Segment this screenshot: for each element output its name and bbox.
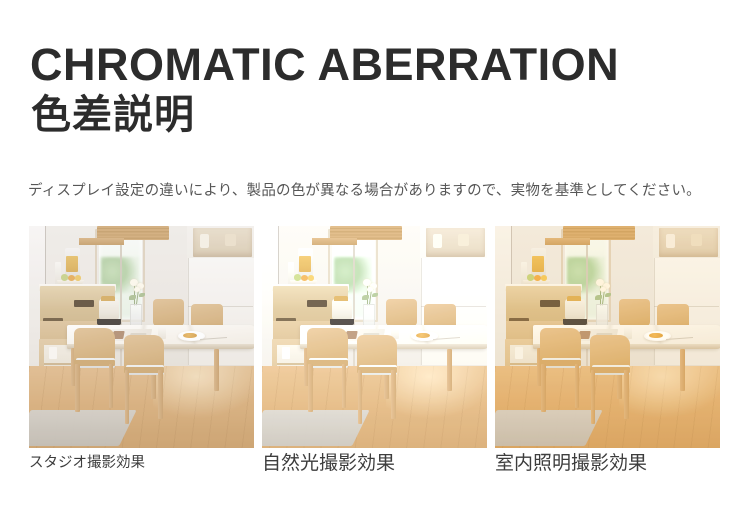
- table-leg-right: [214, 349, 219, 391]
- dining-room-scene-indoor: [495, 226, 720, 448]
- photo-studio: [29, 226, 254, 448]
- fruit-yellow: [541, 275, 547, 281]
- sideboard-slot: [74, 300, 94, 307]
- chair-leg-nr-2: [158, 370, 163, 419]
- table-pot-lid: [567, 296, 581, 301]
- chair-leg-nl-2: [109, 364, 114, 408]
- chair-back-far-left: [619, 299, 651, 326]
- shelf-jar: [49, 347, 57, 359]
- chair-leg-nr-2: [391, 370, 396, 419]
- sideboard-slot: [540, 300, 560, 307]
- table-pot: [99, 299, 119, 320]
- table-pot-base: [563, 319, 588, 324]
- table-pot-base: [97, 319, 122, 324]
- wood-slat-ledge: [545, 238, 590, 245]
- caption-studio: スタジオ撮影効果: [29, 452, 145, 474]
- chair-leg-nl-1: [308, 364, 313, 413]
- chair-back-far-left: [386, 299, 418, 326]
- chair-leg-nl-1: [75, 364, 80, 413]
- chair-back-near-left: [74, 328, 115, 361]
- chair-back-near-right: [590, 335, 631, 368]
- chair-back-far-left: [153, 299, 185, 326]
- blender-jar: [532, 256, 544, 272]
- niche-object-b: [458, 234, 469, 246]
- caption-indoor: 室内照明撮影効果: [495, 452, 647, 476]
- chair-leg-nr-1: [125, 370, 130, 423]
- fruit-green: [294, 274, 302, 281]
- section-subtitle: ディスプレイ設定の違いにより、製品の色が異なる場合がありますので、実物を基準とし…: [28, 181, 701, 201]
- plate-food: [416, 333, 430, 339]
- table-leg-right: [447, 349, 452, 391]
- plate-food: [649, 333, 663, 339]
- flower-leaf-1: [362, 295, 369, 300]
- niche-object-a: [200, 234, 209, 248]
- fruit-green: [61, 274, 69, 281]
- niche-object-a: [666, 234, 675, 248]
- wood-slat-ledge: [312, 238, 357, 245]
- niche-object-b: [225, 234, 236, 246]
- light-pool: [386, 366, 487, 419]
- chair-leg-nl-1: [541, 364, 546, 413]
- chromatic-aberration-section: CHROMATIC ABERRATION 色差説明 ディスプレイ設定の違いにより…: [0, 0, 750, 526]
- table-pot-base: [330, 319, 355, 324]
- chair-leg-nl-2: [342, 364, 347, 408]
- table-pot-lid: [334, 296, 348, 301]
- blender-jar: [66, 256, 78, 272]
- photo-indoor-lighting: [495, 226, 720, 448]
- chair-leg-nr-2: [624, 370, 629, 419]
- chair-back-near-left: [540, 328, 581, 361]
- table-pot: [565, 299, 585, 320]
- shelf-jar: [282, 347, 290, 359]
- plate-food: [183, 333, 197, 339]
- table-pot: [332, 299, 352, 320]
- light-pool: [619, 366, 720, 419]
- chair-leg-nr-1: [358, 370, 363, 423]
- fruit-green: [527, 274, 535, 281]
- niche-object-a: [433, 234, 442, 248]
- chair-leg-nl-2: [575, 364, 580, 408]
- light-pool: [153, 366, 254, 419]
- photo-captions: スタジオ撮影効果 自然光撮影効果 室内照明撮影効果: [29, 452, 721, 482]
- dining-room-scene-daylight: [262, 226, 487, 448]
- dining-room-scene-studio: [29, 226, 254, 448]
- fruit-yellow: [75, 275, 81, 281]
- wood-slat-ledge: [79, 238, 124, 245]
- niche-object-b: [691, 234, 702, 246]
- table-leg-right: [680, 349, 685, 391]
- shelf-jar: [515, 347, 523, 359]
- table-pot-lid: [101, 296, 115, 301]
- sideboard-slot: [307, 300, 327, 307]
- photo-daylight: [262, 226, 487, 448]
- chair-back-near-right: [357, 335, 398, 368]
- chair-back-near-left: [307, 328, 348, 361]
- section-title-english: CHROMATIC ABERRATION: [30, 40, 619, 90]
- caption-daylight: 自然光撮影効果: [262, 452, 395, 476]
- area-rug: [495, 410, 603, 446]
- blender-jar: [299, 256, 311, 272]
- area-rug: [262, 410, 370, 446]
- fruit-yellow: [308, 275, 314, 281]
- flower-leaf-1: [595, 295, 602, 300]
- chair-back-near-right: [124, 335, 165, 368]
- flower-leaf-1: [129, 295, 136, 300]
- chair-leg-nr-1: [591, 370, 596, 423]
- photo-gallery: [29, 226, 721, 448]
- section-title-japanese: 色差説明: [31, 90, 195, 140]
- area-rug: [29, 410, 137, 446]
